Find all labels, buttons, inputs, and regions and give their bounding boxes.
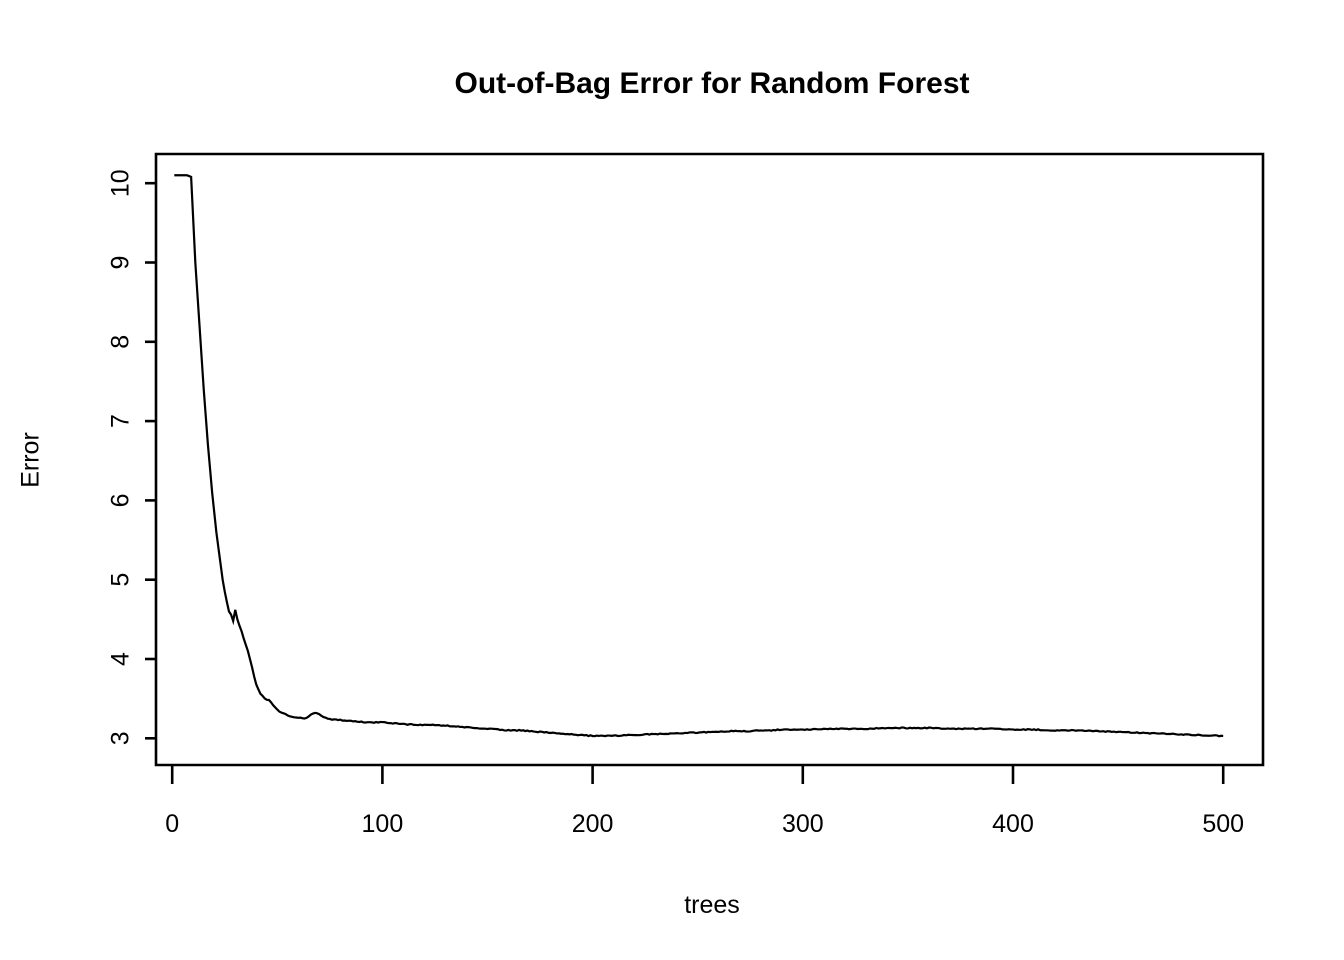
x-tick-label-200: 200 [572, 810, 614, 838]
x-tick-label-0: 0 [165, 810, 179, 838]
y-tick-label-6: 6 [107, 493, 135, 507]
x-tick-label-300: 300 [782, 810, 824, 838]
x-tick-label-100: 100 [362, 810, 404, 838]
chart-canvas: Out-of-Bag Error for Random Forest 10 9 … [0, 0, 1344, 960]
x-tick-label-400: 400 [992, 810, 1034, 838]
y-tick-label-7: 7 [107, 414, 135, 428]
y-tick-label-10: 10 [107, 169, 135, 197]
y-tick-label-4: 4 [107, 652, 135, 666]
plot-figure: Out-of-Bag Error for Random Forest 10 9 … [0, 0, 1344, 960]
x-axis-title: trees [684, 891, 740, 919]
figure-background [0, 0, 1344, 960]
chart-title: Out-of-Bag Error for Random Forest [455, 67, 970, 100]
y-tick-label-3: 3 [107, 731, 135, 745]
x-tick-label-500: 500 [1202, 810, 1244, 838]
y-tick-label-5: 5 [107, 573, 135, 587]
y-axis-title: Error [17, 432, 45, 488]
y-tick-label-9: 9 [107, 256, 135, 270]
y-tick-label-8: 8 [107, 335, 135, 349]
